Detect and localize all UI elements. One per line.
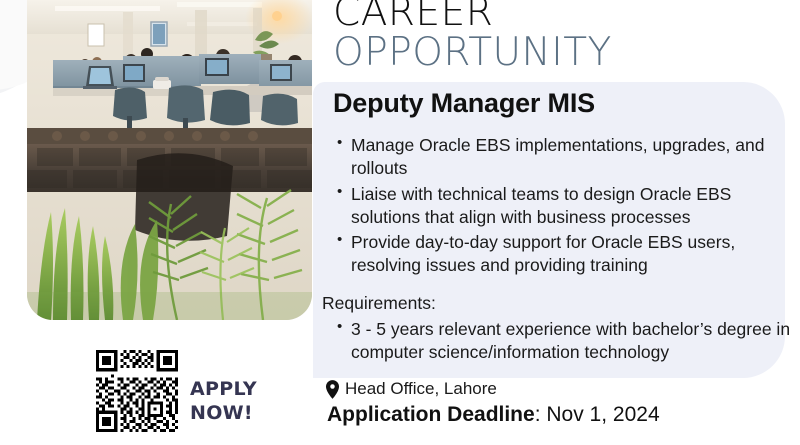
map-pin-icon <box>325 380 340 399</box>
deadline-separator: : <box>535 403 547 426</box>
apply-now-line1: APPLY <box>190 378 257 402</box>
office-photo <box>27 0 312 320</box>
header-line-opportunity: OPPORTUNITY <box>333 34 612 71</box>
deadline-date: Nov 1, 2024 <box>546 403 659 426</box>
requirement-item: 3 - 5 years relevant experience with bac… <box>351 318 797 365</box>
application-deadline: Application Deadline: Nov 1, 2024 <box>327 403 660 427</box>
qr-code[interactable] <box>93 347 181 435</box>
office-photo-illustration <box>27 0 312 320</box>
duty-item: Liaise with technical teams to design Or… <box>351 183 791 230</box>
job-poster: CAREER OPPORTUNITY Deputy Manager MIS Ma… <box>0 0 800 445</box>
location-row: Head Office, Lahore <box>325 379 497 399</box>
duty-item: Manage Oracle EBS implementations, upgra… <box>351 134 791 181</box>
deadline-label: Application Deadline <box>327 403 535 426</box>
qr-code-graphic <box>93 347 181 435</box>
job-duties-list: Manage Oracle EBS implementations, upgra… <box>333 134 791 280</box>
apply-now-line2: NOW! <box>190 402 257 426</box>
job-title: Deputy Manager MIS <box>333 88 595 119</box>
poster-header: CAREER OPPORTUNITY <box>333 0 612 71</box>
apply-now-label[interactable]: APPLY NOW! <box>190 378 257 426</box>
duty-item: Provide day-to-day support for Oracle EB… <box>351 231 791 278</box>
location-text: Head Office, Lahore <box>345 379 497 399</box>
requirements-label: Requirements: <box>322 293 436 314</box>
header-line-career: CAREER <box>333 0 612 31</box>
requirements-list: 3 - 5 years relevant experience with bac… <box>333 318 797 365</box>
